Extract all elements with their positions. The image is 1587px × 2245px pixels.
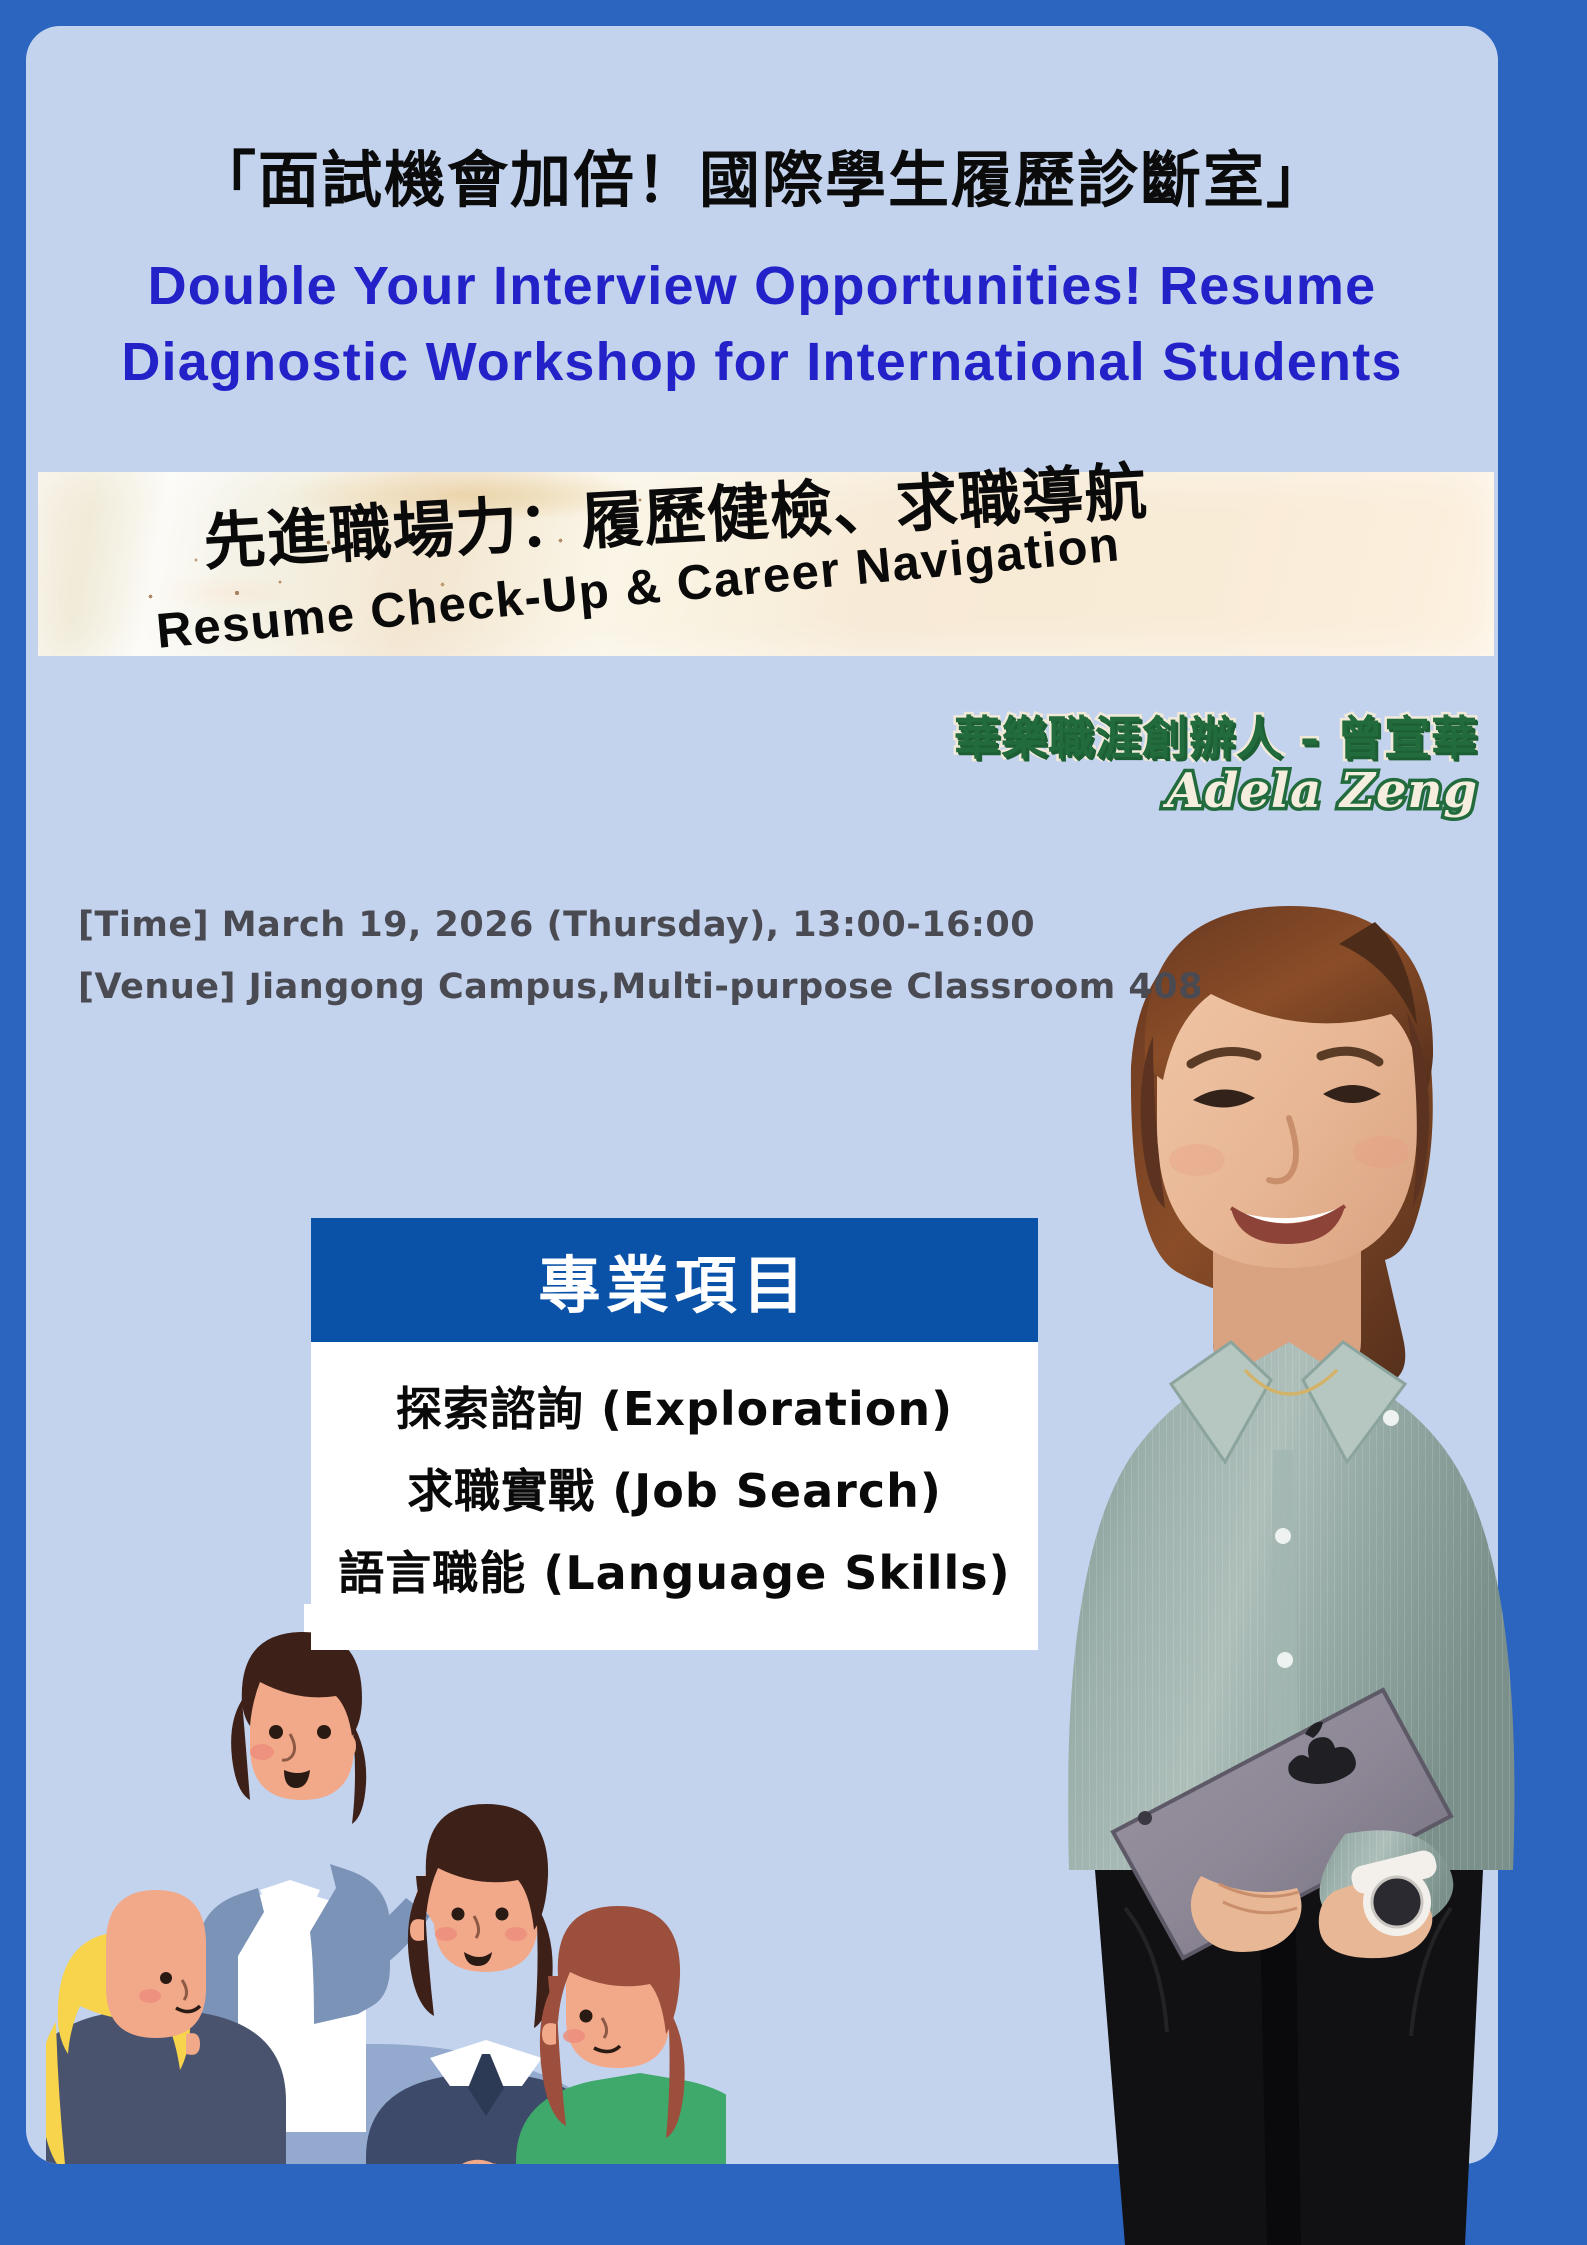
speaker-photo [1005, 830, 1587, 2245]
program-list: 探索諮詢 (Exploration) 求職實戰 (Job Search) 語言職… [311, 1342, 1038, 1650]
event-venue-line: [Venue] Jiangong Campus,Multi-purpose Cl… [78, 956, 1203, 1018]
group-meeting-illustration [46, 1604, 726, 2164]
program-box: 專業項目 探索諮詢 (Exploration) 求職實戰 (Job Search… [311, 1218, 1038, 1650]
page-title-chinese: 「面試機會加倍！國際學生履歷診斷室」 [26, 130, 1498, 219]
program-item-exploration: 探索諮詢 (Exploration) [311, 1368, 1038, 1450]
program-item-job-search: 求職實戰 (Job Search) [311, 1450, 1038, 1532]
page-title-english-line1: Double Your Interview Opportunities! Res… [26, 248, 1498, 324]
program-item-language-skills: 語言職能 (Language Skills) [311, 1532, 1038, 1614]
speaker-name-block: 華樂職涯創辦人 - 曾宣華 Adela Zeng [954, 714, 1478, 816]
program-header: 專業項目 [311, 1218, 1038, 1342]
speaker-name-chinese: 華樂職涯創辦人 - 曾宣華 [954, 714, 1478, 764]
speaker-name-english: Adela Zeng [954, 766, 1478, 816]
event-time-line: [Time] March 19, 2026 (Thursday), 13:00-… [78, 894, 1203, 956]
page-title-english: Double Your Interview Opportunities! Res… [26, 248, 1498, 400]
program-header-label: 專業項目 [538, 1235, 810, 1325]
event-details: [Time] March 19, 2026 (Thursday), 13:00-… [78, 894, 1203, 1018]
poster-root: 「面試機會加倍！國際學生履歷診斷室」 Double Your Interview… [0, 0, 1587, 2245]
page-title-english-line2: Diagnostic Workshop for International St… [26, 324, 1498, 400]
